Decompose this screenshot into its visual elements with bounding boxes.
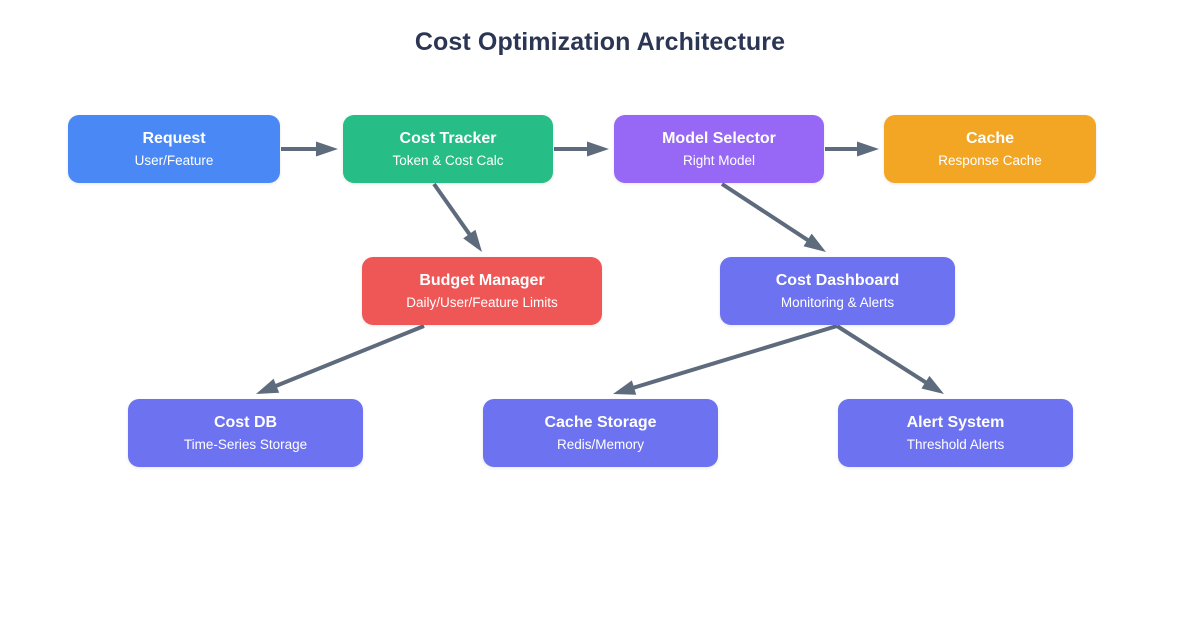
node-subtitle: Daily/User/Feature Limits — [406, 295, 558, 311]
node-title: Cost DB — [214, 414, 277, 432]
arrowhead-icon — [587, 142, 609, 157]
node-title: Cache Storage — [544, 414, 656, 432]
node-cost-dashboard[interactable]: Cost DashboardMonitoring & Alerts — [720, 257, 955, 325]
node-title: Alert System — [907, 414, 1005, 432]
node-subtitle: Right Model — [683, 153, 755, 169]
node-cache[interactable]: CacheResponse Cache — [884, 115, 1096, 183]
node-request[interactable]: RequestUser/Feature — [68, 115, 280, 183]
node-subtitle: Redis/Memory — [557, 437, 644, 453]
diagram-canvas: Cost Optimization Architecture RequestUs… — [0, 0, 1200, 630]
node-subtitle: Threshold Alerts — [907, 437, 1005, 453]
node-subtitle: Token & Cost Calc — [392, 153, 503, 169]
node-cache-storage[interactable]: Cache StorageRedis/Memory — [483, 399, 718, 467]
node-title: Budget Manager — [419, 272, 544, 290]
node-subtitle: Response Cache — [938, 153, 1042, 169]
arrowhead-icon — [463, 230, 482, 252]
node-title: Cost Tracker — [400, 130, 497, 148]
arrowhead-icon — [256, 379, 279, 394]
edge-budget-manager-to-cost-db — [256, 326, 424, 394]
node-subtitle: Time-Series Storage — [184, 437, 307, 453]
edge-cost-dashboard-to-cache-storage — [613, 326, 837, 395]
node-title: Model Selector — [662, 130, 776, 148]
node-title: Cost Dashboard — [776, 272, 900, 290]
node-budget-manager[interactable]: Budget ManagerDaily/User/Feature Limits — [362, 257, 602, 325]
arrowhead-icon — [857, 142, 879, 157]
edge-cost-dashboard-to-alert-system — [837, 326, 944, 394]
arrowhead-icon — [613, 380, 636, 394]
edge-cost-tracker-to-model-selector — [554, 142, 609, 157]
edge-model-selector-to-cache — [825, 142, 879, 157]
node-subtitle: User/Feature — [135, 153, 214, 169]
node-subtitle: Monitoring & Alerts — [781, 295, 894, 311]
edge-model-selector-to-cost-dashboard — [722, 184, 826, 252]
node-cost-tracker[interactable]: Cost TrackerToken & Cost Calc — [343, 115, 553, 183]
node-title: Request — [142, 130, 205, 148]
edge-cost-tracker-to-budget-manager — [434, 184, 482, 252]
node-model-selector[interactable]: Model SelectorRight Model — [614, 115, 824, 183]
arrowhead-icon — [316, 142, 338, 157]
node-title: Cache — [966, 130, 1014, 148]
node-alert-system[interactable]: Alert SystemThreshold Alerts — [838, 399, 1073, 467]
arrowhead-icon — [803, 234, 826, 252]
edge-request-to-cost-tracker — [281, 142, 338, 157]
node-cost-db[interactable]: Cost DBTime-Series Storage — [128, 399, 363, 467]
arrowhead-icon — [921, 376, 944, 394]
